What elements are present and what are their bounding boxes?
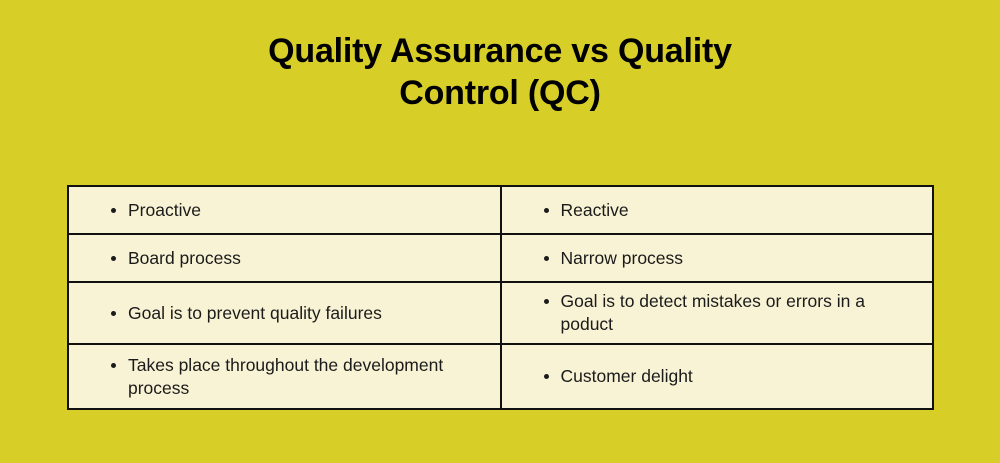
table-row: Goal is to prevent quality failures Goal… [68, 282, 933, 344]
bullet-list: Customer delight [524, 365, 923, 388]
bullet-list: Board process [91, 247, 490, 270]
page-title-line-2: Control (QC) [0, 72, 1000, 114]
table-cell-qc-2: Narrow process [501, 234, 934, 282]
table-cell-qc-1: Reactive [501, 186, 934, 234]
comparison-table: Proactive Reactive Board process [67, 185, 934, 410]
list-item: Takes place throughout the development p… [111, 354, 490, 400]
comparison-table-container: Proactive Reactive Board process [67, 185, 934, 408]
table-row: Takes place throughout the development p… [68, 344, 933, 409]
bullet-list: Narrow process [524, 247, 923, 270]
list-item: Proactive [111, 199, 490, 222]
list-item: Reactive [544, 199, 923, 222]
table-cell-qc-3: Goal is to detect mistakes or errors in … [501, 282, 934, 344]
bullet-list: Proactive [91, 199, 490, 222]
table-cell-qa-3: Goal is to prevent quality failures [68, 282, 501, 344]
table-cell-qc-4: Customer delight [501, 344, 934, 409]
list-item: Narrow process [544, 247, 923, 270]
page-title-line-1: Quality Assurance vs Quality [0, 30, 1000, 72]
page-title: Quality Assurance vs Quality Control (QC… [0, 30, 1000, 114]
bullet-list: Goal is to prevent quality failures [91, 302, 490, 325]
table-row: Board process Narrow process [68, 234, 933, 282]
slide-canvas: Quality Assurance vs Quality Control (QC… [0, 0, 1000, 463]
list-item: Goal is to detect mistakes or errors in … [544, 290, 923, 336]
bullet-list: Takes place throughout the development p… [91, 354, 490, 400]
bullet-list: Goal is to detect mistakes or errors in … [524, 290, 923, 336]
list-item: Board process [111, 247, 490, 270]
bullet-list: Reactive [524, 199, 923, 222]
table-cell-qa-2: Board process [68, 234, 501, 282]
list-item: Customer delight [544, 365, 923, 388]
list-item: Goal is to prevent quality failures [111, 302, 490, 325]
table-cell-qa-4: Takes place throughout the development p… [68, 344, 501, 409]
table-cell-qa-1: Proactive [68, 186, 501, 234]
table-row: Proactive Reactive [68, 186, 933, 234]
